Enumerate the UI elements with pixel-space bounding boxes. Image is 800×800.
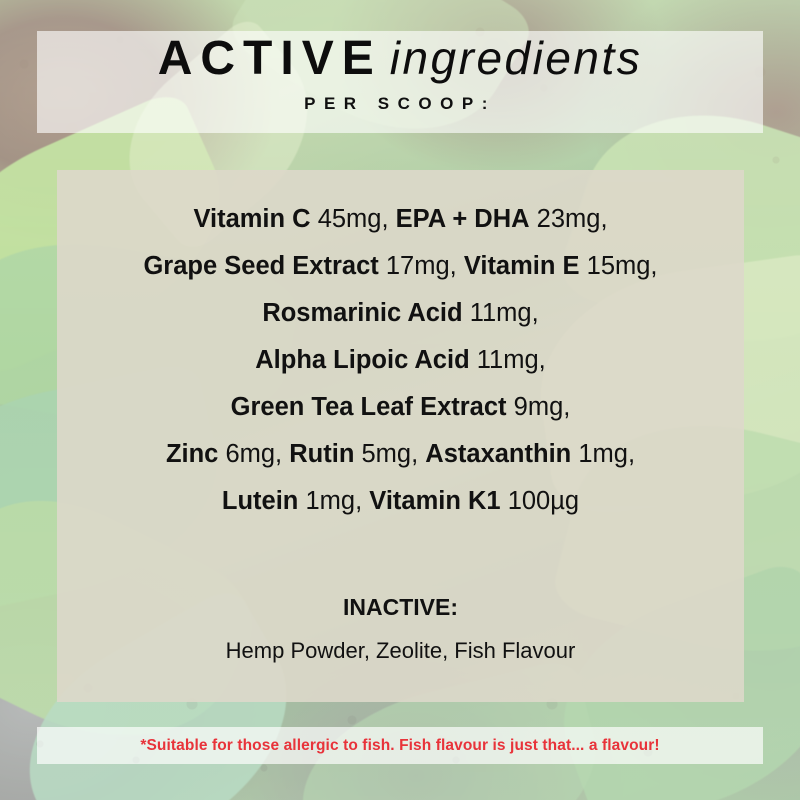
ingredient-line: Lutein 1mg, Vitamin K1 100µg	[57, 478, 744, 525]
ingredient-name: Green Tea Leaf Extract	[231, 393, 507, 421]
header-banner: ACTIVEingredients PER SCOOP:	[37, 31, 763, 133]
inactive-ingredients-block: INACTIVE: Hemp Powder, Zeolite, Fish Fla…	[57, 590, 744, 668]
ingredient-name: Vitamin C	[193, 205, 310, 233]
ingredient-name: Grape Seed Extract	[143, 252, 378, 280]
ingredient-name: Rutin	[289, 440, 354, 468]
ingredient-name: Lutein	[222, 487, 299, 515]
active-ingredients-list: Vitamin C 45mg, EPA + DHA 23mg,Grape See…	[57, 196, 744, 525]
ingredient-name: Vitamin E	[464, 252, 580, 280]
inactive-ingredients-text: Hemp Powder, Zeolite, Fish Flavour	[57, 634, 744, 668]
ingredient-amount: 11mg,	[477, 346, 546, 374]
title-active-word: ACTIVE	[158, 32, 382, 85]
ingredient-amount: 15mg,	[587, 252, 658, 280]
ingredient-amount: 100µg	[508, 487, 579, 515]
ingredient-line: Grape Seed Extract 17mg, Vitamin E 15mg,	[57, 243, 744, 290]
ingredient-name: Vitamin K1	[369, 487, 500, 515]
ingredient-amount: 11mg,	[470, 299, 539, 327]
ingredient-name: Astaxanthin	[425, 440, 571, 468]
ingredient-name: Alpha Lipoic Acid	[255, 346, 469, 374]
ingredient-line: Alpha Lipoic Acid 11mg,	[57, 337, 744, 384]
ingredient-amount: 23mg,	[537, 205, 608, 233]
ingredient-line: Zinc 6mg, Rutin 5mg, Astaxanthin 1mg,	[57, 431, 744, 478]
ingredient-line: Green Tea Leaf Extract 9mg,	[57, 384, 744, 431]
ingredient-line: Vitamin C 45mg, EPA + DHA 23mg,	[57, 196, 744, 243]
ingredients-panel: Vitamin C 45mg, EPA + DHA 23mg,Grape See…	[57, 170, 744, 702]
page-subtitle: PER SCOOP:	[37, 94, 763, 114]
ingredient-line: Rosmarinic Acid 11mg,	[57, 290, 744, 337]
page-title: ACTIVEingredients	[37, 35, 763, 83]
disclaimer-banner: *Suitable for those allergic to fish. Fi…	[37, 727, 763, 764]
ingredient-name: Zinc	[166, 440, 218, 468]
ingredient-amount: 45mg,	[318, 205, 389, 233]
ingredient-amount: 17mg,	[386, 252, 457, 280]
infographic-card: ACTIVEingredients PER SCOOP: Vitamin C 4…	[0, 0, 800, 800]
title-ingredients-word: ingredients	[390, 32, 643, 84]
ingredient-name: EPA + DHA	[396, 205, 530, 233]
disclaimer-text: *Suitable for those allergic to fish. Fi…	[140, 737, 659, 755]
ingredient-name: Rosmarinic Acid	[262, 299, 462, 327]
ingredient-amount: 1mg,	[578, 440, 635, 468]
ingredient-amount: 6mg,	[225, 440, 282, 468]
inactive-heading: INACTIVE:	[57, 590, 744, 624]
ingredient-amount: 9mg,	[514, 393, 571, 421]
ingredient-amount: 5mg,	[362, 440, 419, 468]
ingredient-amount: 1mg,	[305, 487, 362, 515]
